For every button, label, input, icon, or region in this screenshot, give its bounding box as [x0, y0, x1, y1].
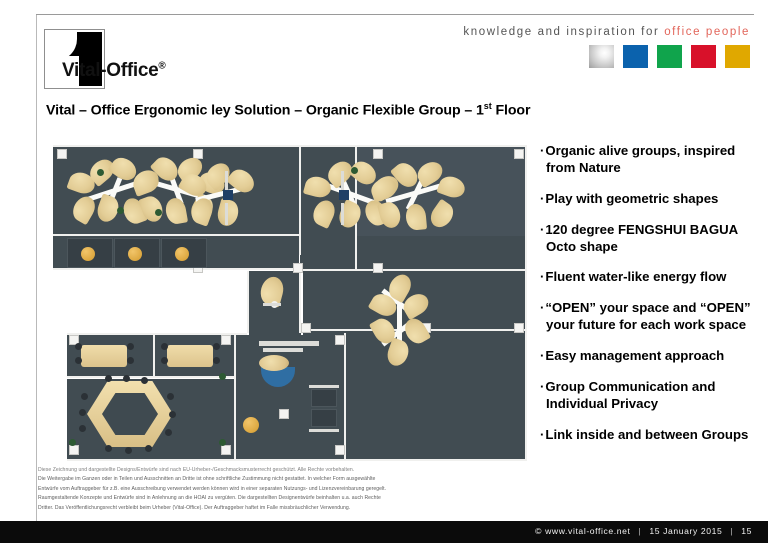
floorplan-octagonal-conference-table — [87, 381, 173, 447]
floorplan-fixture-marker — [223, 190, 233, 200]
floorplan-void-bottom-left — [53, 271, 67, 461]
floorplan-wall-vert-1 — [299, 145, 301, 255]
floorplan-door-marker — [514, 149, 524, 159]
floorplan-chair — [81, 393, 88, 400]
swatch-blue — [623, 45, 648, 68]
floorplan-meeting-table-b — [167, 345, 213, 367]
floorplan-door-marker — [335, 445, 345, 455]
legal-line: Raumgestaltende Konzepte und Entwürfe si… — [38, 494, 486, 503]
legal-line: Diese Zeichnung und dargestellte Designs… — [38, 466, 486, 475]
floorplan-fixture-marker — [279, 409, 289, 419]
legal-line: Die Weitergabe im Ganzen oder in Teilen … — [38, 475, 486, 484]
floorplan-room-mid-band — [300, 236, 527, 270]
floorplan-plant — [219, 373, 226, 380]
floorplan-partition — [341, 203, 344, 225]
bullet-item: Fluent water-like energy flow — [540, 269, 762, 286]
floorplan-reception-counter — [259, 341, 319, 346]
floorplan-desk-cluster-6 — [371, 277, 431, 367]
floorplan-wall-mid-h — [301, 269, 527, 271]
floorplan-plant — [69, 439, 76, 446]
tagline-accent: office people — [664, 26, 750, 38]
floorplan-plant — [219, 439, 226, 446]
floorplan-storage-unit — [311, 389, 337, 407]
floorplan-desk-cluster-5 — [369, 159, 469, 233]
footer-website[interactable]: www.vital-office.net — [545, 526, 630, 536]
floorplan-wall-south — [67, 459, 527, 461]
floorplan-chair — [161, 357, 168, 364]
copyright-icon: © — [535, 526, 542, 536]
frame-border-left — [36, 14, 37, 522]
floorplan-round-desk — [81, 247, 95, 261]
legal-line: Entwürfe vom Auftraggeber für z.B. eine … — [38, 485, 486, 494]
footer-separator: | — [725, 526, 738, 536]
floorplan-door-marker — [293, 263, 303, 273]
floorplan-wall-north — [53, 145, 527, 147]
floorplan-desk-single — [259, 281, 289, 315]
floorplan-chair — [141, 377, 148, 384]
floorplan-chair — [165, 429, 172, 436]
swatch-silver — [589, 45, 614, 68]
floorplan-round-desk — [128, 247, 142, 261]
floorplan-wall-corridor-w — [247, 271, 249, 333]
floorplan-door-marker — [335, 335, 345, 345]
floorplan-storage-top — [309, 385, 339, 388]
floorplan-chair — [169, 411, 176, 418]
footer-separator: | — [634, 526, 647, 536]
floorplan-chair — [79, 409, 86, 416]
swatch-gold — [725, 45, 750, 68]
floorplan-chair — [213, 357, 220, 364]
floorplan-wall-meeting-bottom — [67, 376, 235, 378]
floorplan-fixture-marker — [339, 190, 349, 200]
bullet-item: 120 degree FENGSHUI BAGUA Octo shape — [540, 222, 762, 256]
floorplan-chair — [125, 447, 132, 454]
registered-trademark-icon: ® — [158, 61, 165, 72]
floorplan-door-marker — [221, 445, 231, 455]
floorplan-door-marker — [69, 445, 79, 455]
floorplan-chair — [145, 445, 152, 452]
floorplan-chair — [79, 425, 86, 432]
floorplan-chair — [105, 445, 112, 452]
floorplan-meeting-table-a — [81, 345, 127, 367]
bullet-item: Play with geometric shapes — [540, 191, 762, 208]
page-title-main: Vital – Office Ergonomic ley Solution – … — [46, 103, 484, 119]
floorplan-wall-conference-east — [234, 333, 236, 461]
slide-canvas: Vital-Office® knowledge and inspiration … — [0, 0, 768, 543]
bullet-item: Easy management approach — [540, 348, 762, 365]
floorplan-wall-east — [525, 145, 527, 461]
floorplan-door-marker — [221, 335, 231, 345]
floorplan-storage-unit — [311, 409, 337, 427]
floorplan-desk-cluster-3 — [179, 163, 279, 237]
page-title: Vital – Office Ergonomic ley Solution – … — [46, 101, 530, 119]
frame-border-top — [36, 14, 754, 15]
bullet-list: Organic alive groups, inspired from Natu… — [540, 143, 762, 458]
floorplan-chair — [127, 357, 134, 364]
floorplan-door-marker — [514, 323, 524, 333]
floorplan-image — [53, 145, 527, 461]
floorplan-coffee-table — [243, 417, 259, 433]
floorplan-chair — [123, 375, 130, 382]
bullet-item: Organic alive groups, inspired from Natu… — [540, 143, 762, 177]
floorplan-chair — [213, 343, 220, 350]
floorplan-door-marker — [301, 323, 311, 333]
floorplan-storage-bottom — [309, 429, 339, 432]
legal-line: Dritter. Das Veröffentlichungsrecht verb… — [38, 504, 486, 513]
floorplan-lounge-seat — [259, 355, 289, 371]
page-title-ordinal: st — [484, 101, 492, 111]
floorplan-reception-counter-2 — [263, 348, 303, 352]
swatch-red — [691, 45, 716, 68]
page-title-tail: Floor — [492, 103, 531, 119]
floorplan-wall-reception-east — [344, 333, 346, 461]
floorplan-chair — [161, 343, 168, 350]
footer-date: 15 January 2015 — [649, 526, 722, 536]
bullet-item: “OPEN” your space and “OPEN” your future… — [540, 300, 762, 334]
brand-color-swatches — [589, 45, 750, 68]
floorplan-chair — [75, 357, 82, 364]
bullet-item: Group Communication and Individual Priva… — [540, 379, 762, 413]
logo-wordmark-text: Vital-Office — [62, 60, 158, 81]
floorplan-void-left — [53, 271, 249, 335]
logo-wordmark: Vital-Office® — [62, 60, 165, 82]
floorplan-chair — [127, 343, 134, 350]
floorplan-chair — [75, 343, 82, 350]
legal-disclaimer: Diese Zeichnung und dargestellte Designs… — [38, 466, 486, 513]
tagline: knowledge and inspiration for office peo… — [398, 26, 750, 38]
floorplan-chair — [105, 375, 112, 382]
floorplan-partition — [263, 303, 281, 306]
floorplan-door-marker — [57, 149, 67, 159]
floorplan-door-marker — [373, 263, 383, 273]
floorplan-door-marker — [373, 149, 383, 159]
floorplan-wall-strip-bottom — [53, 268, 301, 270]
swatch-green — [657, 45, 682, 68]
tagline-main: knowledge and inspiration for — [463, 26, 659, 38]
bullet-item: Link inside and between Groups — [540, 427, 762, 444]
floorplan-round-desk — [175, 247, 189, 261]
footer-text: © www.vital-office.net | 15 January 2015… — [535, 526, 752, 536]
floorplan-wall-meeting-top — [67, 333, 247, 335]
footer-page-number: 15 — [741, 526, 752, 536]
floorplan-partition — [225, 203, 228, 225]
floorplan-chair — [167, 393, 174, 400]
floorplan-wall-meeting-div — [153, 335, 155, 377]
